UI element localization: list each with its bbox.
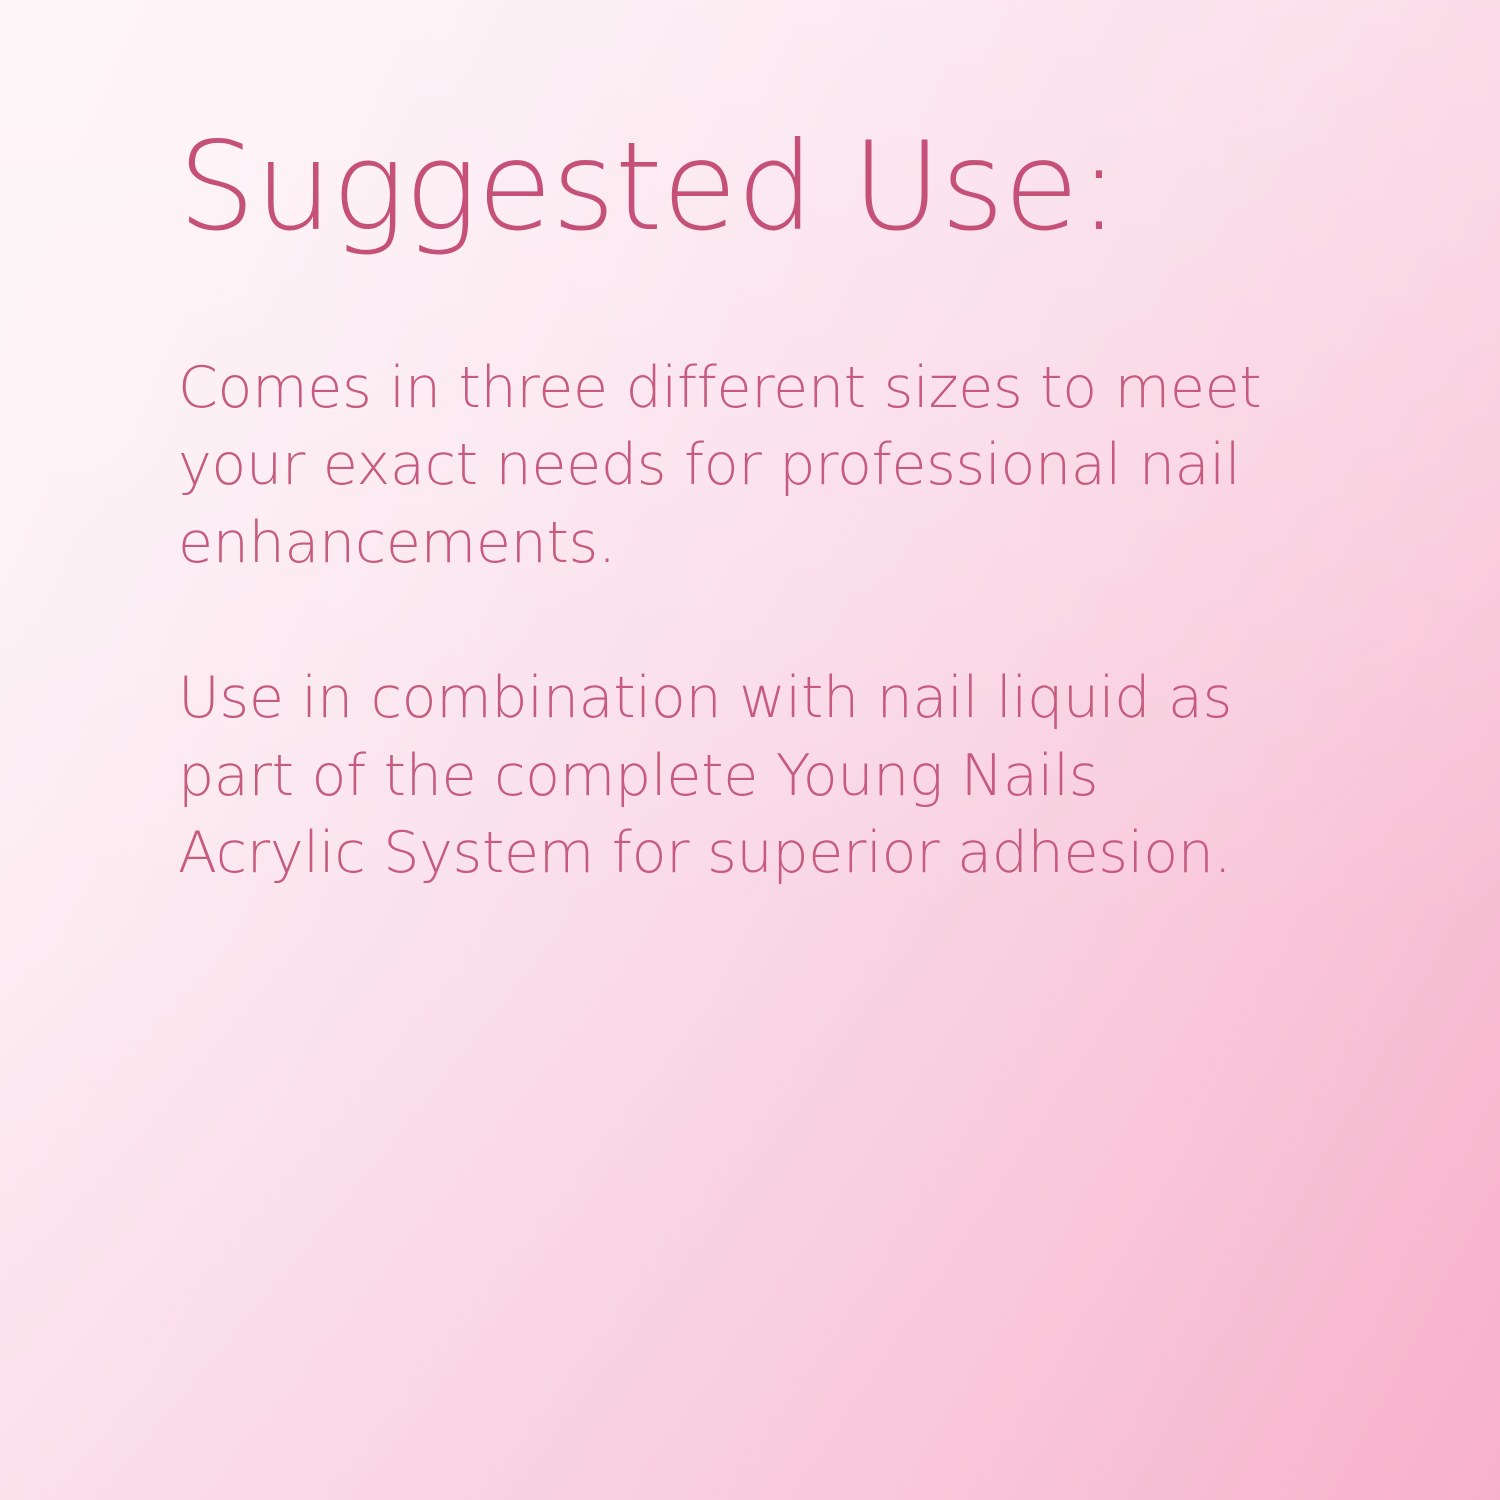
page-title: Suggested Use: [178,122,1268,254]
description-paragraph-system: Use in combination with nail liquid as p… [178,660,1263,893]
suggested-use-panel: Suggested Use: Comes in three different … [0,0,1500,1500]
description-paragraph-sizes: Comes in three different sizes to meet y… [178,350,1263,583]
content-column: Suggested Use: Comes in three different … [178,122,1268,893]
